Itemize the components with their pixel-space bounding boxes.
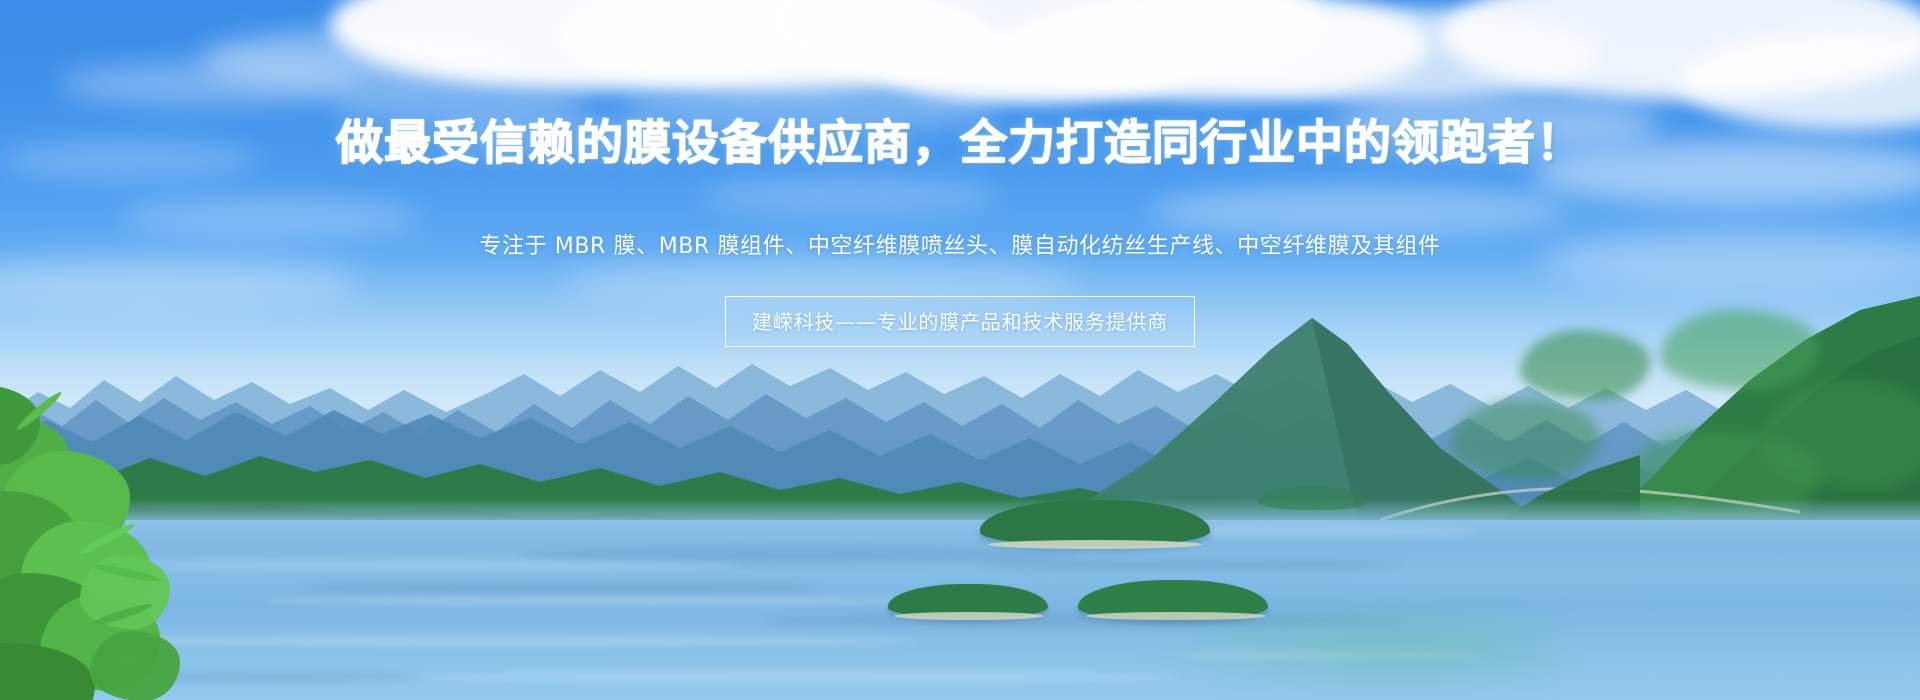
island-right-small-shore — [1086, 612, 1266, 620]
island-center-large-shore — [988, 540, 1202, 549]
island-left-small-shore — [894, 612, 1044, 620]
water-shore-tint — [1140, 610, 1560, 700]
cloud-shape — [880, 30, 1180, 102]
banner-headline: 做最受信赖的膜设备供应商，全力打造同行业中的领跑者！ — [0, 119, 1920, 168]
hero-banner: 做最受信赖的膜设备供应商，全力打造同行业中的领跑者！ 专注于 MBR 膜、MBR… — [0, 0, 1920, 700]
banner-tagline-box: 建嵘科技——专业的膜产品和技术服务提供商 — [725, 296, 1195, 347]
island-far-right — [1258, 486, 1368, 510]
foreground-tree — [0, 405, 200, 700]
cloud-wisp — [60, 62, 360, 106]
cloud-wisp — [700, 175, 1000, 215]
banner-subline: 专注于 MBR 膜、MBR 膜组件、中空纤维膜喷丝头、膜自动化纺丝生产线、中空纤… — [0, 228, 1920, 260]
banner-tagline-wrap: 建嵘科技——专业的膜产品和技术服务提供商 — [0, 296, 1920, 347]
